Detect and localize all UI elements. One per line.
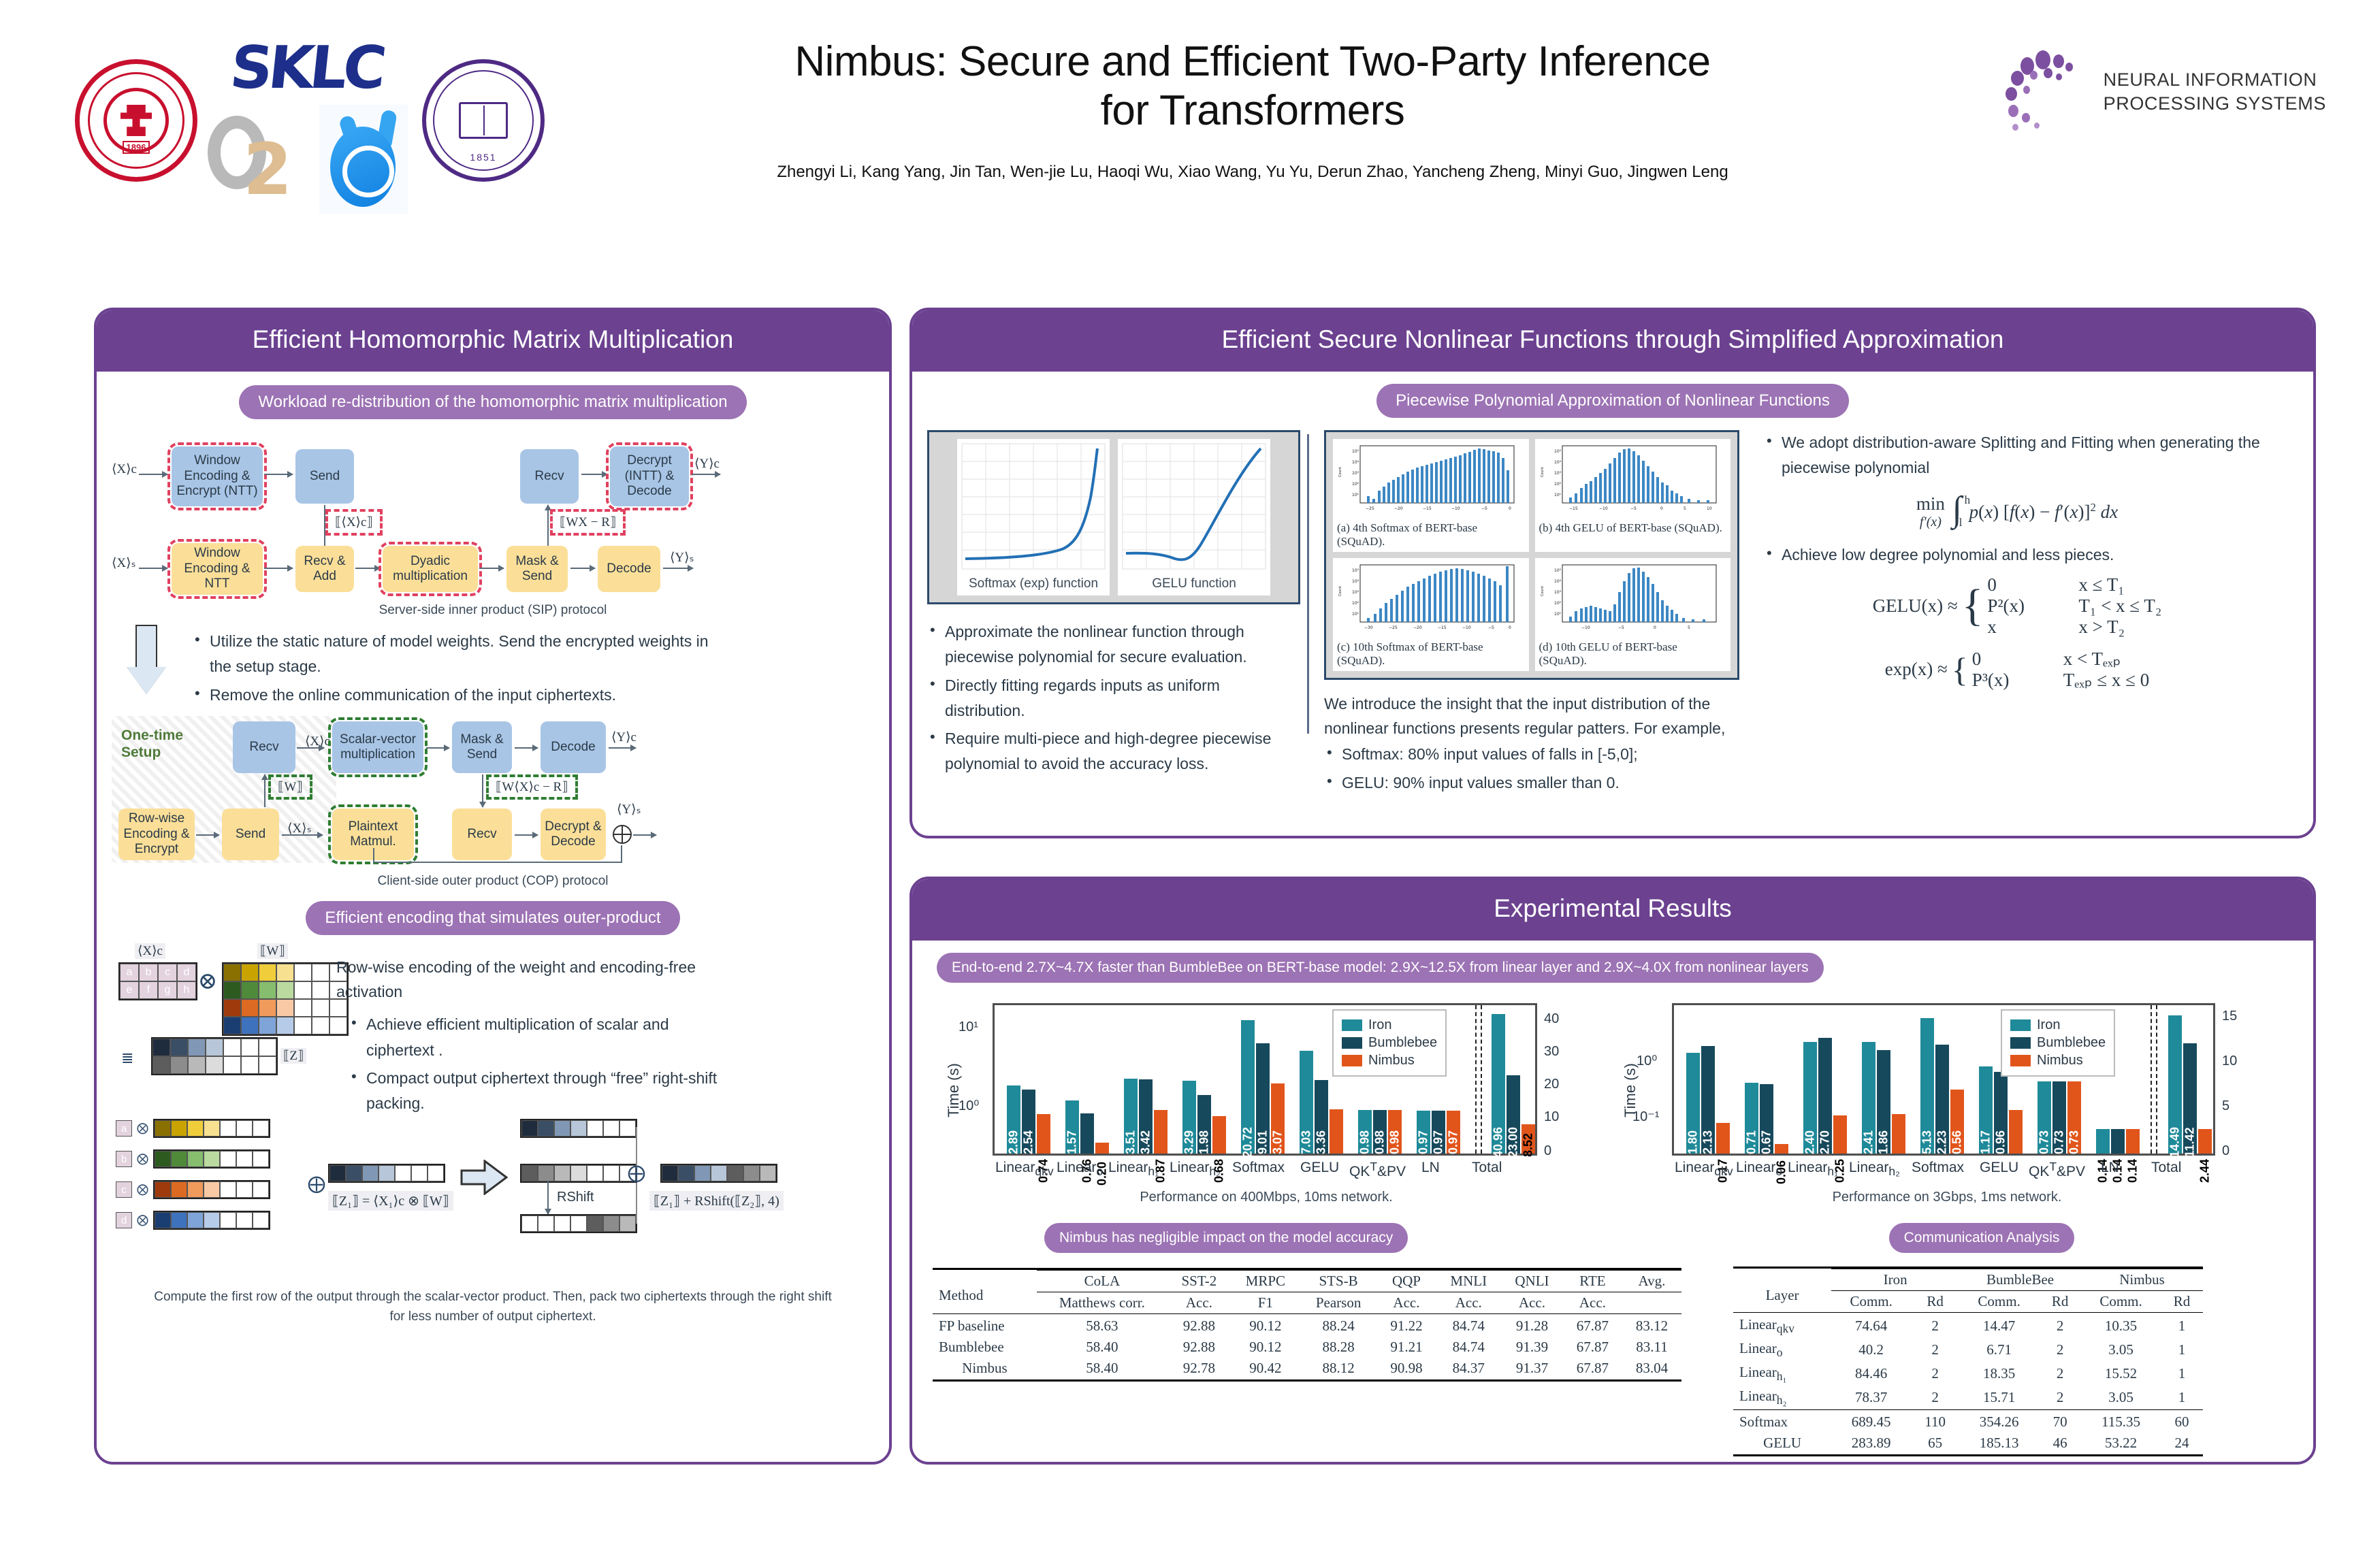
neurips-logo: NEURAL INFORMATION PROCESSING SYSTEMS: [2004, 48, 2326, 136]
svg-text:10¹: 10¹: [1352, 612, 1359, 617]
accuracy-section: Nimbus has negligible impact on the mode…: [933, 1223, 1709, 1456]
one-time-setup-label: One-time Setup: [121, 727, 183, 761]
cop-message-w: ⟦W⟧: [272, 779, 308, 796]
comm-cell: 1: [2161, 1338, 2203, 1362]
packing-caption: Compute the first row of the output thro…: [112, 1288, 874, 1326]
svg-text:−10: −10: [1462, 625, 1471, 630]
packing-diagram: a ⨂ b ⨂ c ⨂: [112, 1115, 874, 1278]
accuracy-table-header-datasets: Method CoLA SST-2 MRPC STS-B QQP MNLI QN…: [933, 1271, 1681, 1292]
comm-cell: 110: [1911, 1411, 1959, 1433]
comm-cell: 3.05: [2081, 1386, 2161, 1410]
comm-cell: 10.35: [2081, 1314, 2161, 1338]
chart2-caption: Performance on 3Gbps, 1ms network.: [1620, 1190, 2274, 1205]
hist-caption-b: (b) 4th GELU of BERT-base (SQuAD).: [1539, 521, 1727, 535]
packing-result-vector: [660, 1164, 777, 1183]
hist-caption-a: (a) 4th Softmax of BERT-base (SQuAD).: [1337, 521, 1525, 548]
comm-cell: 15.52: [2081, 1362, 2161, 1386]
comm-cell: 185.13: [1959, 1433, 2039, 1454]
comm-table-corner: Layer: [1733, 1269, 1831, 1313]
chart1-xtick-linear-o: Linearo: [1057, 1160, 1103, 1179]
page-title: Nimbus: Secure and Efficient Two-Party I…: [667, 37, 1838, 135]
chart2-legend-iron: Iron: [2010, 1017, 2106, 1033]
comm-group-nimbus: Nimbus: [2081, 1269, 2203, 1291]
comm-cell: 2: [2039, 1386, 2081, 1410]
chart1-plot-area: 2.89 2.54 0.74 1.57 0.76 0.20 3.51 3.42 …: [993, 1003, 1537, 1156]
accuracy-col-mnli: MNLI: [1436, 1271, 1501, 1292]
comm-cell: 2: [1911, 1386, 1959, 1410]
comm-row-layer: Linearqkv: [1733, 1314, 1831, 1338]
accuracy-col-qnli: QNLI: [1501, 1271, 1563, 1292]
accuracy-cell: 92.88: [1168, 1316, 1231, 1337]
svg-text:Count: Count: [1338, 586, 1342, 596]
accuracy-table-corner: Method: [933, 1271, 1037, 1314]
accuracy-metric-mnli: Acc.: [1436, 1292, 1501, 1314]
sip-bullet-1: Utilize the static nature of model weigh…: [192, 629, 730, 680]
gelu-function-card: GELU function: [1118, 439, 1270, 595]
neurips-wordmark: NEURAL INFORMATION PROCESSING SYSTEMS: [2104, 68, 2326, 116]
accuracy-cell: 90.42: [1231, 1358, 1300, 1379]
sip-input-client-label: ⟨X⟩с: [112, 461, 137, 477]
comm-cell: 53.22: [2081, 1433, 2161, 1454]
accuracy-row1-method: Bumblebee: [933, 1337, 1037, 1358]
comm-row-layer: Linearh₁: [1733, 1362, 1831, 1386]
nonlinear-column-1: Softmax (exp) function: [927, 430, 1300, 798]
chart1-legend-bumblebee: Bumblebee: [1342, 1035, 1437, 1051]
neurips-line2: PROCESSING SYSTEMS: [2104, 92, 2326, 116]
svg-text:10⁴: 10⁴: [1554, 460, 1562, 465]
sip-box-dyadic-multiplication: Dyadic multiplication: [383, 546, 478, 592]
accuracy-cell: 67.87: [1563, 1358, 1622, 1379]
comm-sub-rd-iron: Rd: [1911, 1291, 1959, 1313]
packing-z1-vector: [328, 1164, 445, 1183]
comm-cell: 2: [2039, 1362, 2081, 1386]
chart1-ytick-10e1: 10¹: [959, 1019, 978, 1035]
packing-scalar-b: b: [116, 1151, 132, 1167]
comm-cell: 70: [2039, 1411, 2081, 1433]
panel-nonlinear-heading: Efficient Secure Nonlinear Functions thr…: [912, 310, 2313, 372]
chart1-rtick-0: 0: [1544, 1143, 1551, 1159]
comm-cell: 2: [2039, 1338, 2081, 1362]
accuracy-cell: 83.12: [1622, 1316, 1681, 1337]
table-row: Softmax 689.45 110 354.26 70 115.35 60: [1733, 1411, 2203, 1433]
chart2-plot-area: 1.80 2.13 0.17 0.71 0.67 0.06 2.40 2.70 …: [1672, 1003, 2215, 1156]
accuracy-cell: 90.12: [1231, 1337, 1300, 1358]
cop-box-rowwise-encoding-encrypt: Row-wise Encoding & Encrypt: [118, 808, 195, 860]
hist-plot-c: Count 10⁵10⁴10³ 10²10¹ −30−25−20 −15−10−…: [1337, 562, 1519, 637]
comm-cell: 1: [2161, 1362, 2203, 1386]
nonlinear-bullet-left-1: Approximate the nonlinear function throu…: [927, 619, 1289, 670]
svg-text:10³: 10³: [1554, 471, 1562, 476]
sip-output-server-label: ⟨Y⟩ₛ: [670, 550, 694, 566]
comm-cell: 60: [2161, 1411, 2203, 1433]
chart2-xtick-qkpv: QKT&PV: [2029, 1160, 2085, 1180]
accuracy-table-header-metrics: Matthews corr. Acc. F1 Pearson Acc. Acc.…: [933, 1292, 1681, 1314]
accuracy-row0-method: FP baseline: [933, 1316, 1037, 1337]
svg-text:10¹: 10¹: [1554, 493, 1562, 497]
softmax-function-plot: [961, 443, 1106, 570]
table-row: Linearh₁ 84.46 2 18.35 2 15.52 1: [1733, 1362, 2203, 1386]
accuracy-metric-avg: [1622, 1292, 1681, 1314]
packing-equation-right: ⟦Z₁⟧ + RShift(⟦Z₂⟧, 4): [649, 1191, 784, 1211]
logo-row: 1896 SKLC 2 1851: [75, 27, 545, 214]
svg-text:Count: Count: [1541, 467, 1545, 477]
chart1-xtick-ln: LN: [1421, 1160, 1440, 1176]
accuracy-cell: 88.12: [1300, 1358, 1377, 1379]
svg-text:−20: −20: [1394, 506, 1403, 511]
outer-product-operator-icon: ⨂: [200, 972, 215, 990]
chart1-caption: Performance on 400Mbps, 10ms network.: [933, 1190, 1600, 1205]
encoding-bullet-1: Achieve efficient multiplication of scal…: [349, 1012, 738, 1063]
svg-text:Count: Count: [1541, 586, 1545, 596]
comm-cell: 2: [1911, 1362, 1959, 1386]
comm-cell: 1: [2161, 1386, 2203, 1410]
page-title-line1: Nimbus: Secure and Efficient Two-Party I…: [667, 37, 1838, 86]
accuracy-table: Method CoLA SST-2 MRPC STS-B QQP MNLI QN…: [933, 1268, 1681, 1382]
chart2-ytick-10e-1: 10⁻¹: [1632, 1108, 1659, 1125]
sip-bullet-list: Utilize the static nature of model weigh…: [192, 622, 730, 708]
comm-group-iron: Iron: [1831, 1269, 1959, 1291]
accuracy-col-qqp: QQP: [1376, 1271, 1436, 1292]
chart1-xtick-linear-qkv: Linearqkv: [995, 1160, 1054, 1179]
exp-equation-label: exp(x) ≈: [1885, 659, 1948, 680]
svg-text:10³: 10³: [1554, 590, 1562, 595]
svg-text:−15: −15: [1438, 625, 1447, 630]
nonlinear-bullet-right-1: We adopt distribution-aware Splitting an…: [1764, 430, 2270, 481]
accuracy-metric-stsb: Pearson: [1300, 1292, 1377, 1314]
chart2-rtick-10: 10: [2222, 1053, 2237, 1069]
pill-accuracy: Nimbus has negligible impact on the mode…: [1044, 1223, 1408, 1253]
sip-bullet-2: Remove the online communication of the i…: [192, 683, 730, 708]
northwestern-year-label: 1851: [470, 152, 496, 163]
svg-text:−10: −10: [1451, 506, 1460, 511]
chart2-legend-bumblebee: Bumblebee: [2010, 1035, 2106, 1051]
downward-arrow-icon: [127, 625, 166, 694]
comm-cell: 2: [1911, 1314, 1959, 1338]
hist-plot-b: Count 10⁵10⁴10³ 10²10¹ −15−10−5 0510: [1539, 443, 1722, 518]
sip-message-encrypted-x: ⟦⟨X⟩с⟧: [329, 513, 379, 532]
table-row: Linearqkv 74.64 2 14.47 2 10.35 1: [1733, 1314, 2203, 1338]
svg-text:−5: −5: [1481, 506, 1487, 511]
chart2-rtick-5: 5: [2222, 1098, 2229, 1114]
comm-group-bumblebee: BumbleBee: [1959, 1269, 2081, 1291]
pill-workload-redistribution: Workload re-distribution of the homomorp…: [239, 385, 746, 419]
svg-text:10³: 10³: [1352, 471, 1359, 476]
svg-text:10⁴: 10⁴: [1554, 579, 1562, 584]
nonlinear-column-3: We adopt distribution-aware Splitting an…: [1739, 430, 2270, 798]
chart2-legend: Iron Bumblebee Nimbus: [2001, 1009, 2115, 1077]
accuracy-cell: 83.11: [1622, 1337, 1681, 1358]
chart2-legend-nimbus: Nimbus: [2010, 1053, 2106, 1068]
comm-cell: 354.26: [1959, 1411, 2039, 1433]
comm-cell: 65: [1911, 1433, 1959, 1454]
cop-box-scalar-vector-multiplication: Scalar-vector multiplication: [332, 721, 423, 773]
northwestern-logo: 1851: [422, 59, 545, 182]
function-plots-figure: Softmax (exp) function: [927, 430, 1300, 604]
sip-message-wx-minus-r: ⟦WX − R⟧: [554, 513, 622, 532]
nonlinear-insight-bullet-2: GELU: 90% input values smaller than 0.: [1324, 770, 1739, 796]
vertical-divider: [1307, 434, 1309, 734]
svg-text:0: 0: [1509, 625, 1511, 630]
mult-icon-a: ⨂: [137, 1122, 148, 1135]
accuracy-cell: 67.87: [1563, 1316, 1622, 1337]
svg-text:10⁵: 10⁵: [1352, 449, 1359, 454]
svg-text:10⁵: 10⁵: [1352, 568, 1359, 573]
table-row: Bumblebee 58.40 92.88 90.12 88.28 91.21 …: [933, 1337, 1681, 1358]
cop-caption: Client-side outer product (COP) protocol: [112, 874, 874, 889]
svg-text:Count: Count: [1338, 467, 1342, 477]
comm-cell: 2: [2039, 1314, 2081, 1338]
communication-table: Layer Iron BumbleBee Nimbus Comm. Rd Com…: [1733, 1267, 2203, 1456]
packing-scalar-c: c: [116, 1181, 132, 1198]
packing-equation-left: ⟦Z₁⟧ = ⟨X₁⟩с ⊗ ⟦W⟧: [328, 1191, 453, 1211]
svg-text:10²: 10²: [1352, 601, 1359, 606]
chart2-xtick-linear-h2: Linearh₂: [1849, 1160, 1900, 1179]
comm-cell: 74.64: [1831, 1314, 1911, 1338]
sip-box-decrypt-decode: Decrypt (INTT) & Decode: [610, 446, 689, 506]
accuracy-cell: 91.37: [1501, 1358, 1563, 1379]
cop-box-mask-send: Mask & Send: [452, 721, 512, 773]
gelu-equation-label: GELU(x) ≈: [1873, 595, 1958, 617]
accuracy-cell: 58.63: [1037, 1316, 1168, 1337]
accuracy-col-rte: RTE: [1563, 1271, 1622, 1292]
chart1-rtick-10: 10: [1544, 1109, 1559, 1125]
svg-text:10²: 10²: [1352, 482, 1359, 487]
nonlinear-insight-bullets: Softmax: 80% input values of falls in [-…: [1324, 742, 1739, 796]
accuracy-cell: 88.28: [1300, 1337, 1377, 1358]
chart2-ytick-10e0: 10⁰: [1637, 1052, 1657, 1069]
accuracy-cell: 58.40: [1037, 1358, 1168, 1379]
encoding-label-x: ⟨X⟩с: [135, 943, 165, 959]
neurips-line1: NEURAL INFORMATION: [2104, 68, 2326, 92]
sip-output-client-label: ⟨Y⟩с: [694, 456, 720, 472]
svg-text:−25: −25: [1366, 506, 1374, 511]
chart2-rtick-0: 0: [2222, 1143, 2229, 1159]
sip-box-window-encoding-ntt: Window Encoding & NTT: [172, 543, 263, 595]
chart1-xtick-softmax: Softmax: [1232, 1160, 1285, 1176]
table-row: Linearh₂ 78.37 2 15.71 2 3.05 1: [1733, 1386, 2203, 1410]
comm-cell: 84.46: [1831, 1362, 1911, 1386]
svg-text:−5: −5: [1618, 625, 1624, 630]
matrix-w: [222, 962, 349, 1036]
comm-sub-comm-iron: Comm.: [1831, 1291, 1911, 1313]
pill-efficient-encoding: Efficient encoding that simulates outer-…: [306, 901, 679, 935]
sip-protocol-diagram: ⟨X⟩с Window Encoding & Encrypt (NTT) Sen…: [112, 429, 874, 606]
gelu-function-plot: [1122, 443, 1266, 570]
chart-400mbps: Time (s) 10¹ 10⁰ 2.89 2.54 0.74 1.57 0.7…: [933, 994, 1600, 1205]
sip-box-window-encoding-encrypt: Window Encoding & Encrypt (NTT): [172, 446, 263, 506]
svg-text:10³: 10³: [1352, 590, 1359, 595]
svg-text:10¹: 10¹: [1352, 493, 1359, 497]
equation-gelu-approximation: GELU(x) ≈ { 0x ≤ T₁ P²(x)T₁ < x ≤ T₂ xx …: [1764, 574, 2270, 638]
neurips-swirl-icon: [2004, 48, 2093, 136]
hist-card-a: Count 10⁵10⁴10³ 10²10¹ −25−20−15 −10−50 …: [1333, 439, 1529, 552]
table-row: GELU 283.89 65 185.13 46 53.22 24: [1733, 1433, 2203, 1454]
encoding-intro-text: Row-wise encoding of the weight and enco…: [336, 955, 738, 1004]
hist-plot-d: Count 10⁵10⁴10³ 10²10¹ −10−50 5: [1539, 562, 1722, 637]
sip-box-recv-add: Recv & Add: [295, 546, 354, 592]
nonlinear-bullet-list-right-1: We adopt distribution-aware Splitting an…: [1764, 430, 2270, 481]
equation-exp-approximation: exp(x) ≈ { 0x < Tₑₓₚ P³(x)Tₑₓₚ ≤ x ≤ 0: [1764, 649, 2270, 691]
comm-cell: 15.71: [1959, 1386, 2039, 1410]
chart1-xtick-gelu: GELU: [1300, 1160, 1339, 1176]
softmax-function-caption: Softmax (exp) function: [961, 576, 1106, 591]
svg-text:5: 5: [1688, 625, 1690, 630]
packing-z2-vector: [520, 1164, 637, 1183]
mult-icon-c: ⨂: [137, 1183, 148, 1196]
nonlinear-bullet-left-2: Directly fitting regards inputs as unifo…: [927, 673, 1289, 724]
cop-box-decode: Decode: [541, 721, 606, 773]
cop-xor-icon: [613, 825, 632, 844]
packing-scalar-a: a: [116, 1120, 132, 1137]
comm-cell: 14.47: [1959, 1314, 2039, 1338]
plus-icon-left: ⨁: [308, 1173, 325, 1194]
packing-shifted-vector: [520, 1214, 637, 1233]
o2-logo: 2: [205, 105, 307, 214]
histogram-figure: Count 10⁵10⁴10³ 10²10¹ −25−20−15 −10−50 …: [1324, 430, 1739, 680]
chart2-xtick-softmax: Softmax: [1912, 1160, 1964, 1176]
table-row: Nimbus 58.40 92.78 90.42 88.12 90.98 84.…: [933, 1358, 1681, 1379]
accuracy-cell: 83.04: [1622, 1358, 1681, 1379]
chart1-xtick-total: Total: [1472, 1160, 1502, 1176]
svg-text:−10: −10: [1599, 506, 1608, 511]
title-block: Nimbus: Secure and Efficient Two-Party I…: [667, 37, 1838, 182]
comm-cell: 1: [2161, 1314, 2203, 1338]
accuracy-cell: 92.88: [1168, 1337, 1231, 1358]
chart2-rtick-15: 15: [2222, 1009, 2237, 1024]
accuracy-col-sst2: SST-2: [1168, 1271, 1231, 1292]
matrix-z: [151, 1037, 278, 1075]
svg-text:0: 0: [1654, 625, 1656, 630]
rshift-label: RShift: [557, 1190, 594, 1205]
chart2-xtick-linear-qkv: Linearqkv: [1675, 1160, 1733, 1179]
cop-protocol-diagram: One-time Setup Recv ⟨X⟩с Scalar-vector m…: [112, 712, 874, 870]
cop-label-y-client: ⟨Y⟩с: [611, 730, 637, 745]
hist-card-c: Count 10⁵10⁴10³ 10²10¹ −30−25−20 −15−10−…: [1333, 558, 1529, 671]
accuracy-metric-rte: Acc.: [1563, 1292, 1622, 1314]
comm-cell: 3.05: [2081, 1338, 2161, 1362]
svg-text:10¹: 10¹: [1554, 612, 1562, 617]
chart2-axis-break: [2151, 1005, 2152, 1154]
hist-caption-c: (c) 10th Softmax of BERT-base (SQuAD).: [1337, 640, 1525, 667]
accuracy-cell: 91.22: [1376, 1316, 1436, 1337]
chart1-rtick-20: 20: [1544, 1077, 1559, 1092]
accuracy-cell: 84.37: [1436, 1358, 1501, 1379]
panel-experimental-results: Experimental Results End-to-end 2.7X~4.7…: [909, 877, 2316, 1465]
encoding-label-z: ⟦Z⟧: [280, 1048, 306, 1064]
nonlinear-bullet-list-right-2: Achieve low degree polynomial and less p…: [1764, 542, 2270, 568]
nonlinear-column-2: Count 10⁵10⁴10³ 10²10¹ −25−20−15 −10−50 …: [1324, 430, 1739, 798]
svg-text:10⁴: 10⁴: [1352, 579, 1359, 584]
packing-scalar-d: d: [116, 1212, 132, 1228]
svg-text:0: 0: [1509, 506, 1511, 511]
svg-text:−5: −5: [1630, 506, 1637, 511]
encoding-diagram: ⟨X⟩с a b c d e f g h ⨂ ⟦W⟧ ≣: [112, 945, 874, 1122]
accuracy-cell: 91.39: [1501, 1337, 1563, 1358]
chart-3gbps: Time (s) 10⁰ 10⁻¹ 1.80 2.13 0.17 0.71 0.…: [1620, 994, 2274, 1205]
svg-text:10⁵: 10⁵: [1554, 449, 1562, 454]
mult-icon-d: ⨂: [137, 1213, 148, 1227]
accuracy-cell: 58.40: [1037, 1337, 1168, 1358]
comm-cell: 6.71: [1959, 1338, 2039, 1362]
comm-cell: 24: [2161, 1433, 2203, 1454]
encoding-text-block: Row-wise encoding of the weight and enco…: [336, 955, 738, 1119]
chart2-xtick-linear-h1: Linearh₁: [1788, 1160, 1838, 1179]
comm-table-header-groups: Layer Iron BumbleBee Nimbus: [1733, 1269, 2203, 1291]
sip-input-server-label: ⟨X⟩ₛ: [112, 555, 136, 571]
cop-box-recv-client: Recv: [233, 721, 295, 773]
cop-label-y-server: ⟨Y⟩ₛ: [617, 802, 641, 817]
comm-cell: 115.35: [2081, 1411, 2161, 1433]
comm-sub-rd-nimbus: Rd: [2161, 1291, 2203, 1313]
svg-text:10⁴: 10⁴: [1352, 460, 1359, 465]
hist-card-d: Count 10⁵10⁴10³ 10²10¹ −10−50 5 (d) 10th…: [1535, 558, 1731, 671]
nonlinear-bullet-right-2: Achieve low degree polynomial and less p…: [1764, 542, 2270, 568]
chart1-legend-iron: Iron: [1342, 1017, 1437, 1033]
accuracy-metric-mrpc: F1: [1231, 1292, 1300, 1314]
mult-icon-b: ⨂: [137, 1152, 148, 1166]
svg-text:−30: −30: [1364, 625, 1373, 630]
comm-cell: 283.89: [1831, 1433, 1911, 1454]
chart1-ytick-10e0: 10⁰: [959, 1097, 979, 1114]
svg-text:−25: −25: [1389, 625, 1398, 630]
cop-box-recv-server: Recv: [452, 808, 512, 860]
nonlinear-bullet-left-3: Require multi-piece and high-degree piec…: [927, 726, 1289, 777]
accuracy-cell: 84.74: [1436, 1316, 1501, 1337]
accuracy-cell: 84.74: [1436, 1337, 1501, 1358]
table-row: Linearo 40.2 2 6.71 2 3.05 1: [1733, 1338, 2203, 1362]
equals-icon: ≣: [121, 1049, 133, 1067]
table-row: FP baseline 58.63 92.88 90.12 88.24 91.2…: [933, 1316, 1681, 1337]
panel-nonlinear-functions: Efficient Secure Nonlinear Functions thr…: [909, 308, 2316, 838]
chart1-axis-break: [1475, 1005, 1477, 1154]
accuracy-metric-qqp: Acc.: [1376, 1292, 1436, 1314]
comm-row-layer: Linearh₂: [1733, 1386, 1831, 1410]
svg-text:10⁵: 10⁵: [1554, 568, 1562, 573]
comm-sub-comm-bb: Comm.: [1959, 1291, 2039, 1313]
svg-text:−15: −15: [1423, 506, 1432, 511]
comm-row-layer: Softmax: [1733, 1411, 1831, 1433]
chart1-legend: Iron Bumblebee Nimbus: [1332, 1009, 1447, 1077]
poster-header: 1896 SKLC 2 1851: [0, 0, 2367, 286]
chart1-rtick-40: 40: [1544, 1011, 1559, 1027]
accuracy-col-stsb: STS-B: [1300, 1271, 1377, 1292]
svg-text:−20: −20: [1413, 625, 1422, 630]
chart2-xtick-ln: LN: [2101, 1160, 2119, 1176]
svg-text:10: 10: [1707, 506, 1712, 511]
encoding-label-w: ⟦W⟧: [257, 943, 288, 959]
rightward-arrow-icon: [460, 1160, 508, 1198]
gelu-function-caption: GELU function: [1122, 576, 1266, 591]
sip-box-recv: Recv: [520, 449, 579, 504]
cop-message-wx-minus-r: ⟦W⟨X⟩с − R⟧: [490, 779, 574, 796]
comm-sub-rd-bb: Rd: [2039, 1291, 2081, 1313]
sklc-logo: SKLC: [200, 27, 413, 109]
pill-communication-analysis: Communication Analysis: [1889, 1223, 2075, 1253]
panel-homomorphic-matmul-heading: Efficient Homomorphic Matrix Multiplicat…: [97, 310, 889, 372]
comm-row-layer: GELU: [1733, 1433, 1831, 1454]
gemini-logo: [319, 105, 408, 214]
softmax-function-card: Softmax (exp) function: [957, 439, 1110, 595]
nonlinear-bullet-list-left: Approximate the nonlinear function throu…: [927, 619, 1300, 777]
panel-results-heading: Experimental Results: [912, 879, 2313, 941]
hist-card-b: Count 10⁵10⁴10³ 10²10¹ −15−10−5 0510 (b)…: [1535, 439, 1731, 552]
accuracy-col-cola: CoLA: [1037, 1271, 1168, 1292]
svg-text:10²: 10²: [1554, 482, 1562, 487]
svg-text:−10: −10: [1581, 625, 1590, 630]
accuracy-cell: 67.87: [1563, 1337, 1622, 1358]
comm-cell: 2: [1911, 1338, 1959, 1362]
accuracy-cell: 91.28: [1501, 1316, 1563, 1337]
